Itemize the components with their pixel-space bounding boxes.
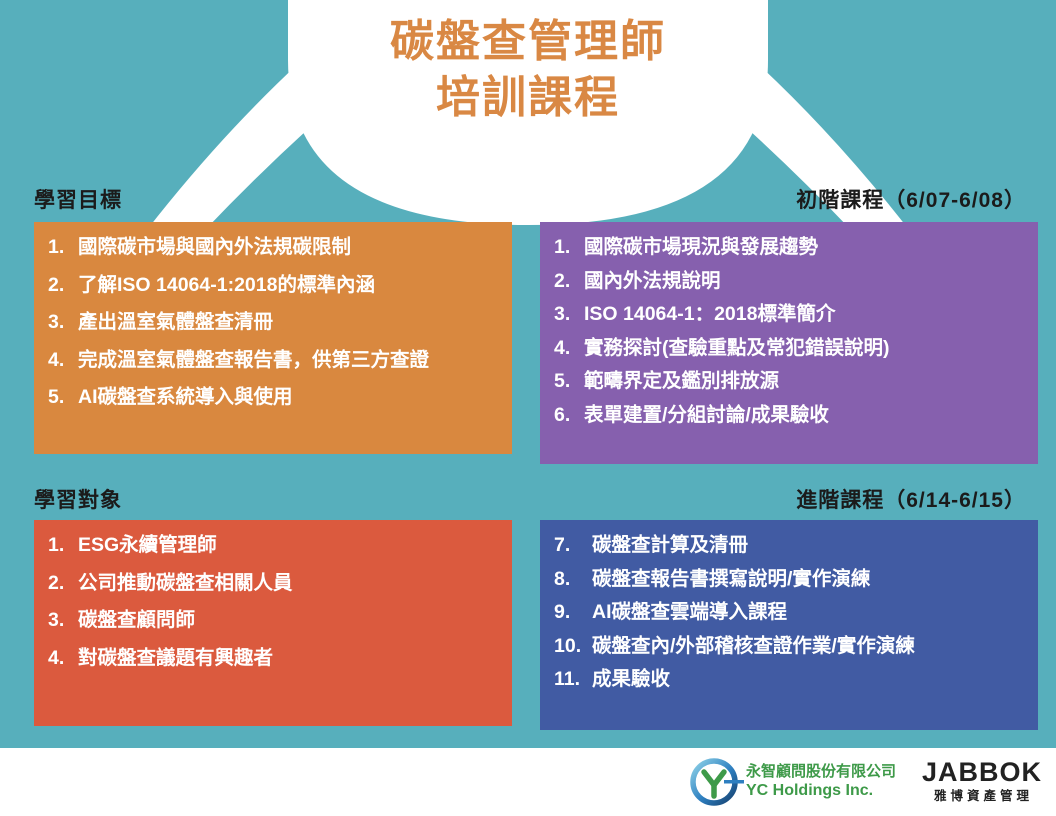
advanced-course-list: 7.碳盤查計算及清冊 8.碳盤查報告書撰寫說明/實作演練 9.AI碳盤查雲端導入… (554, 536, 1024, 704)
item-text: 對碳盤查議題有興趣者 (78, 649, 498, 669)
item-number: 2. (48, 276, 78, 296)
list-item: 5.範疇界定及鑑別排放源 (554, 372, 1024, 406)
list-item: 1.國際碳市場現況與發展趨勢 (554, 238, 1024, 272)
item-text: 產出溫室氣體盤查清冊 (78, 313, 498, 333)
item-text: 公司推動碳盤查相關人員 (78, 574, 498, 594)
yc-chinese-name: 永智顧問股份有限公司 (746, 764, 896, 780)
item-text: ESG永續管理師 (78, 536, 498, 556)
audience-heading: 學習對象 (34, 484, 122, 514)
list-item: 2.了解ISO 14064-1:2018的標準內涵 (48, 276, 498, 314)
title-line-1: 碳盤查管理師 (0, 14, 1056, 70)
item-number: 4. (48, 649, 78, 669)
list-item: 5.AI碳盤查系統導入與使用 (48, 388, 498, 426)
list-item: 8.碳盤查報告書撰寫說明/實作演練 (554, 570, 1024, 604)
jabbok-logo: JABBOK 雅博資產管理 (922, 759, 1042, 804)
list-item: 2.公司推動碳盤查相關人員 (48, 574, 498, 612)
audience-panel: 1.ESG永續管理師 2.公司推動碳盤查相關人員 3.碳盤查顧問師 4.對碳盤查… (34, 520, 512, 726)
item-number: 2. (554, 272, 584, 292)
item-number: 1. (554, 238, 584, 258)
item-number: 2. (48, 574, 78, 594)
footer-logos: 永智顧問股份有限公司 YC Holdings Inc. JABBOK 雅博資產管… (688, 754, 1042, 810)
advanced-course-panel: 7.碳盤查計算及清冊 8.碳盤查報告書撰寫說明/實作演練 9.AI碳盤查雲端導入… (540, 520, 1038, 730)
item-text: AI碳盤查系統導入與使用 (78, 388, 498, 408)
item-text: 碳盤查報告書撰寫說明/實作演練 (592, 570, 1024, 590)
list-item: 11.成果驗收 (554, 670, 1024, 704)
item-number: 11. (554, 670, 592, 690)
item-number: 5. (48, 388, 78, 408)
item-number: 9. (554, 603, 592, 623)
objectives-list: 1.國際碳市場與國內外法規碳限制 2.了解ISO 14064-1:2018的標準… (48, 238, 498, 426)
item-number: 1. (48, 536, 78, 556)
list-item: 7.碳盤查計算及清冊 (554, 536, 1024, 570)
item-text: 碳盤查計算及清冊 (592, 536, 1024, 556)
item-number: 3. (48, 611, 78, 631)
item-number: 10. (554, 637, 592, 657)
list-item: 10.碳盤查內/外部稽核查證作業/實作演練 (554, 637, 1024, 671)
list-item: 1.國際碳市場與國內外法規碳限制 (48, 238, 498, 276)
item-number: 7. (554, 536, 592, 556)
list-item: 3.產出溫室氣體盤查清冊 (48, 313, 498, 351)
footer: 永智顧問股份有限公司 YC Holdings Inc. JABBOK 雅博資產管… (0, 748, 1056, 816)
yc-circle-y-icon (688, 754, 744, 810)
list-item: 4.完成溫室氣體盤查報告書，供第三方查證 (48, 351, 498, 389)
objectives-panel: 1.國際碳市場與國內外法規碳限制 2.了解ISO 14064-1:2018的標準… (34, 222, 512, 454)
item-number: 5. (554, 372, 584, 392)
item-text: 了解ISO 14064-1:2018的標準內涵 (78, 276, 498, 296)
item-number: 8. (554, 570, 592, 590)
beginner-course-heading: 初階課程（6/07-6/08） (796, 184, 1026, 214)
item-text: 碳盤查內/外部稽核查證作業/實作演練 (592, 637, 1024, 657)
item-text: 國際碳市場現況與發展趨勢 (584, 238, 1024, 258)
objectives-heading: 學習目標 (34, 184, 122, 214)
item-text: 實務探討(查驗重點及常犯錯誤說明) (584, 339, 1024, 359)
item-number: 4. (48, 351, 78, 371)
yc-logo-text: 永智顧問股份有限公司 YC Holdings Inc. (746, 764, 896, 799)
list-item: 2.國內外法規說明 (554, 272, 1024, 306)
item-number: 6. (554, 406, 584, 426)
item-number: 3. (554, 305, 584, 325)
list-item: 4.實務探討(查驗重點及常犯錯誤說明) (554, 339, 1024, 373)
item-number: 3. (48, 313, 78, 333)
beginner-course-panel: 1.國際碳市場現況與發展趨勢 2.國內外法規說明 3.ISO 14064-1：2… (540, 222, 1038, 464)
item-text: 碳盤查顧問師 (78, 611, 498, 631)
item-text: 國內外法規說明 (584, 272, 1024, 292)
item-text: ISO 14064-1：2018標準簡介 (584, 305, 1024, 325)
jabbok-chinese-name: 雅博資產管理 (925, 788, 1042, 804)
item-text: 成果驗收 (592, 670, 1024, 690)
advanced-course-heading: 進階課程（6/14-6/15） (796, 484, 1026, 514)
item-text: 國際碳市場與國內外法規碳限制 (78, 238, 498, 258)
list-item: 9.AI碳盤查雲端導入課程 (554, 603, 1024, 637)
list-item: 1.ESG永續管理師 (48, 536, 498, 574)
item-text: 完成溫室氣體盤查報告書，供第三方查證 (78, 351, 498, 371)
list-item: 4.對碳盤查議題有興趣者 (48, 649, 498, 687)
item-text: AI碳盤查雲端導入課程 (592, 603, 1024, 623)
list-item: 3.碳盤查顧問師 (48, 611, 498, 649)
poster-title: 碳盤查管理師 培訓課程 (0, 14, 1056, 127)
jabbok-brand-name: JABBOK (922, 759, 1042, 786)
yc-holdings-logo: 永智顧問股份有限公司 YC Holdings Inc. (688, 754, 896, 810)
item-number: 1. (48, 238, 78, 258)
list-item: 6.表單建置/分組討論/成果驗收 (554, 406, 1024, 440)
item-text: 表單建置/分組討論/成果驗收 (584, 406, 1024, 426)
item-number: 4. (554, 339, 584, 359)
title-line-2: 培訓課程 (0, 70, 1056, 126)
list-item: 3.ISO 14064-1：2018標準簡介 (554, 305, 1024, 339)
item-text: 範疇界定及鑑別排放源 (584, 372, 1024, 392)
audience-list: 1.ESG永續管理師 2.公司推動碳盤查相關人員 3.碳盤查顧問師 4.對碳盤查… (48, 536, 498, 686)
yc-english-name: YC Holdings Inc. (746, 782, 896, 800)
poster-root: 碳盤查管理師 培訓課程 學習目標 1.國際碳市場與國內外法規碳限制 2.了解IS… (0, 0, 1056, 816)
beginner-course-list: 1.國際碳市場現況與發展趨勢 2.國內外法規說明 3.ISO 14064-1：2… (554, 238, 1024, 439)
